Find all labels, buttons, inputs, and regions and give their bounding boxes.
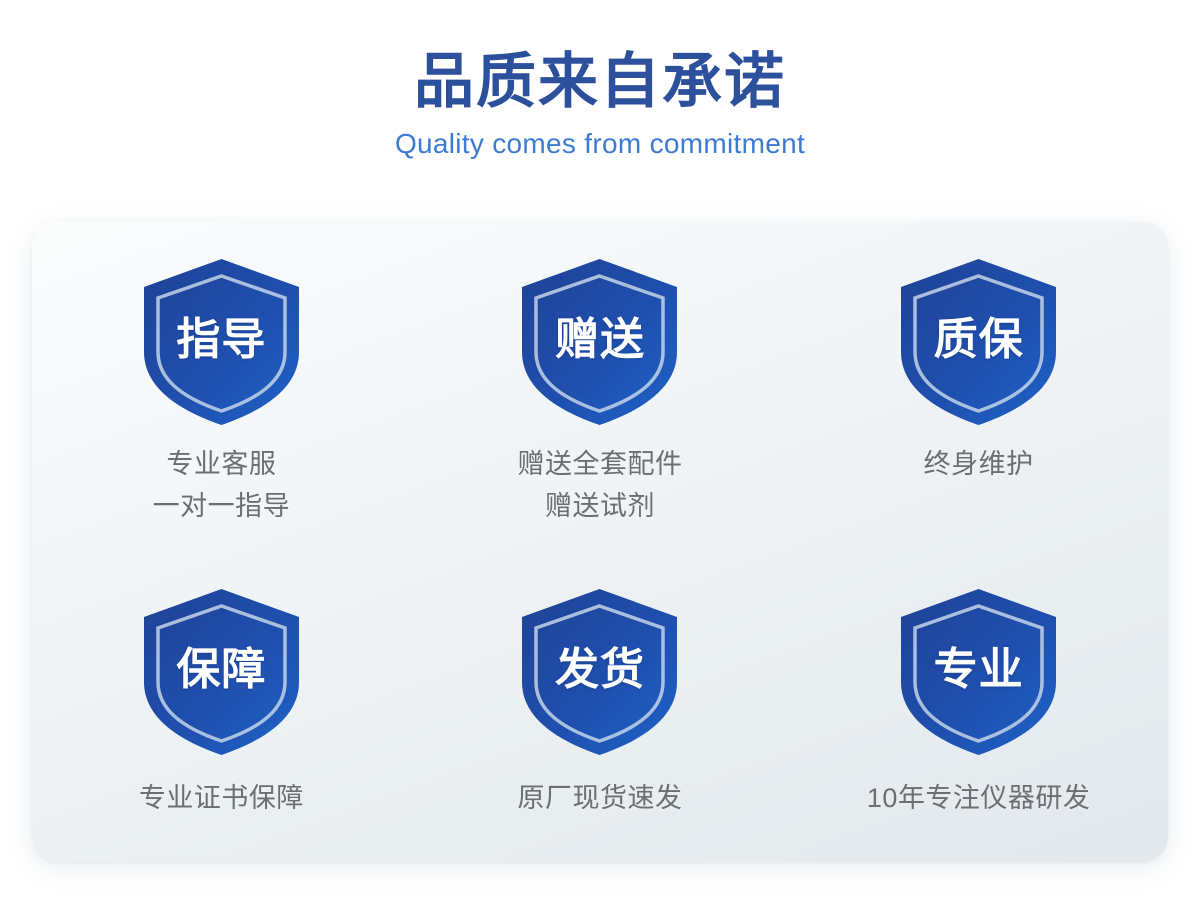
shield-badge-label: 专业 — [934, 633, 1024, 697]
shield-badge-label: 保障 — [176, 633, 266, 697]
shield-badge-label: 指导 — [176, 303, 266, 367]
shield-badge: 专业 — [896, 586, 1061, 758]
guarantee-item-gift: 赠送 赠送全套配件 赠送试剂 — [411, 222, 790, 542]
guarantee-item-guidance: 指导 专业客服 一对一指导 — [32, 222, 411, 542]
shield-badge-label: 赠送 — [555, 303, 645, 367]
guarantee-item-shipping: 发货 原厂现货速发 — [411, 542, 790, 862]
page-subtitle: Quality comes from commitment — [0, 127, 1200, 161]
guarantee-item-professional: 专业 10年专注仪器研发 — [789, 542, 1168, 862]
shield-badge: 指导 — [139, 256, 304, 428]
page-header: 品质来自承诺 Quality comes from commitment — [0, 0, 1200, 161]
guarantee-item-caption: 专业证书保障 — [139, 778, 304, 820]
guarantee-item-caption: 终身维护 — [924, 444, 1034, 486]
guarantee-item-certificate: 保障 专业证书保障 — [32, 542, 411, 862]
guarantee-item-warranty: 质保 终身维护 — [789, 222, 1168, 542]
guarantee-card: 指导 专业客服 一对一指导 赠送 — [32, 222, 1168, 862]
guarantee-grid: 指导 专业客服 一对一指导 赠送 — [32, 222, 1168, 862]
guarantee-item-caption: 专业客服 一对一指导 — [153, 444, 291, 528]
page-title: 品质来自承诺 — [0, 48, 1200, 115]
shield-badge: 保障 — [139, 586, 304, 758]
shield-badge-label: 质保 — [934, 303, 1024, 367]
guarantee-item-caption: 原厂现货速发 — [517, 778, 682, 820]
shield-badge: 质保 — [896, 256, 1061, 428]
shield-badge-label: 发货 — [555, 633, 645, 697]
shield-badge: 发货 — [517, 586, 682, 758]
guarantee-item-caption: 10年专注仪器研发 — [867, 778, 1091, 820]
shield-badge: 赠送 — [517, 256, 682, 428]
guarantee-item-caption: 赠送全套配件 赠送试剂 — [517, 444, 682, 528]
